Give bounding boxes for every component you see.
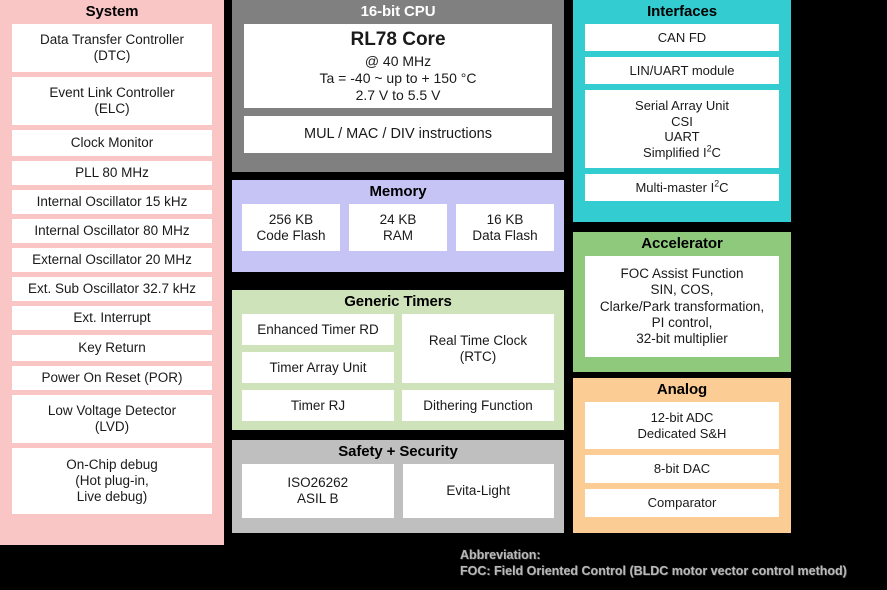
block-data-transfer-controller: Data Transfer Controller (DTC) xyxy=(12,24,212,72)
group-analog: Analog 12-bit ADC Dedicated S&H 8-bit DA… xyxy=(573,378,791,533)
group-analog-title: Analog xyxy=(585,378,779,402)
footnote-line-1: Abbreviation: xyxy=(460,548,887,564)
block-evita-light: Evita-Light xyxy=(403,464,555,518)
footnote-line-2: FOC: Field Oriented Control (BLDC motor … xyxy=(460,564,887,580)
group-memory-title: Memory xyxy=(242,180,554,204)
core-temperature: Ta = -40 ~ up to + 150 °C xyxy=(320,70,477,87)
block-serial-array-unit: Serial Array Unit CSI UART Simplified I2… xyxy=(585,90,779,168)
block-clock-monitor: Clock Monitor xyxy=(12,130,212,156)
group-memory: Memory 256 KB Code Flash 24 KB RAM 16 KB… xyxy=(232,180,564,272)
block-ram: 24 KB RAM xyxy=(349,204,447,251)
block-code-flash: 256 KB Code Flash xyxy=(242,204,340,251)
block-low-voltage-detector: Low Voltage Detector (LVD) xyxy=(12,395,212,443)
block-timer-array-unit: Timer Array Unit xyxy=(242,352,394,383)
block-timer-rj: Timer RJ xyxy=(242,390,394,421)
block-dac: 8-bit DAC xyxy=(585,455,779,483)
core-clock: @ 40 MHz xyxy=(365,53,431,70)
group-interfaces-title: Interfaces xyxy=(585,0,779,24)
block-data-flash: 16 KB Data Flash xyxy=(456,204,554,251)
block-rl78-core: RL78 Core @ 40 MHz Ta = -40 ~ up to + 15… xyxy=(244,24,552,108)
block-comparator: Comparator xyxy=(585,489,779,517)
block-internal-oscillator-15khz: Internal Oscillator 15 kHz xyxy=(12,190,212,214)
group-timers-title: Generic Timers xyxy=(242,290,554,314)
group-safety-title: Safety + Security xyxy=(242,440,554,464)
block-real-time-clock: Real Time Clock (RTC) xyxy=(402,314,554,383)
block-multi-master-i2c: Multi-master I2C xyxy=(585,174,779,201)
group-cpu: 16-bit CPU RL78 Core @ 40 MHz Ta = -40 ~… xyxy=(232,0,564,172)
core-voltage: 2.7 V to 5.5 V xyxy=(356,87,441,104)
group-generic-timers: Generic Timers Enhanced Timer RD Timer A… xyxy=(232,290,564,430)
block-power-on-reset: Power On Reset (POR) xyxy=(12,366,212,390)
block-mul-mac-div: MUL / MAC / DIV instructions xyxy=(244,116,552,153)
block-lin-uart-module: LIN/UART module xyxy=(585,57,779,84)
group-system-title: System xyxy=(12,0,212,24)
block-event-link-controller: Event Link Controller (ELC) xyxy=(12,77,212,125)
core-name: RL78 Core xyxy=(350,29,445,52)
block-dithering-function: Dithering Function xyxy=(402,390,554,421)
block-key-return: Key Return xyxy=(12,335,212,361)
block-foc-assist-function: FOC Assist Function SIN, COS, Clarke/Par… xyxy=(585,256,779,357)
block-on-chip-debug: On-Chip debug (Hot plug-in, Live debug) xyxy=(12,448,212,514)
block-adc: 12-bit ADC Dedicated S&H xyxy=(585,402,779,449)
block-iso26262: ISO26262 ASIL B xyxy=(242,464,394,518)
block-ext-sub-oscillator: Ext. Sub Oscillator 32.7 kHz xyxy=(12,277,212,301)
block-internal-oscillator-80mhz: Internal Oscillator 80 MHz xyxy=(12,219,212,243)
group-accelerator-title: Accelerator xyxy=(585,232,779,256)
group-accelerator: Accelerator FOC Assist Function SIN, COS… xyxy=(573,232,791,372)
footnote-abbreviation: Abbreviation: FOC: Field Oriented Contro… xyxy=(460,548,887,579)
block-ext-interrupt: Ext. Interrupt xyxy=(12,306,212,330)
block-can-fd: CAN FD xyxy=(585,24,779,51)
block-enhanced-timer-rd: Enhanced Timer RD xyxy=(242,314,394,345)
block-diagram: System Data Transfer Controller (DTC) Ev… xyxy=(0,0,887,590)
group-safety-security: Safety + Security ISO26262 ASIL B Evita-… xyxy=(232,440,564,533)
block-external-oscillator-20mhz: External Oscillator 20 MHz xyxy=(12,248,212,272)
group-cpu-title: 16-bit CPU xyxy=(244,0,552,24)
simplified-i2c-label: Simplified I2C xyxy=(643,145,721,161)
block-pll: PLL 80 MHz xyxy=(12,161,212,185)
group-interfaces: Interfaces CAN FD LIN/UART module Serial… xyxy=(573,0,791,222)
group-system: System Data Transfer Controller (DTC) Ev… xyxy=(0,0,224,545)
